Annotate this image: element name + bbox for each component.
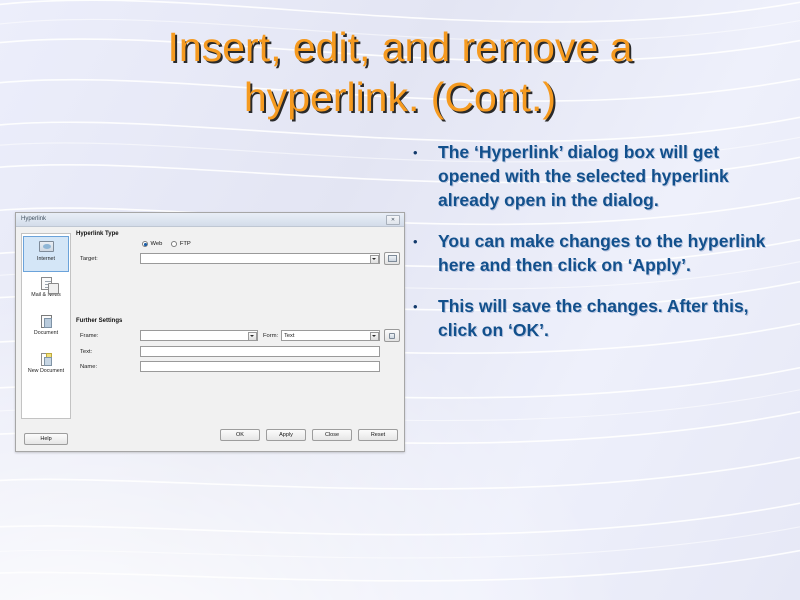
sidebar-item-new-document[interactable]: New Document	[22, 350, 70, 386]
name-label: Name:	[76, 364, 140, 370]
further-settings-group-label: Further Settings	[76, 318, 400, 324]
target-input[interactable]	[140, 253, 380, 264]
frame-input[interactable]	[140, 330, 258, 341]
chevron-down-icon[interactable]	[370, 255, 379, 264]
text-input[interactable]	[140, 346, 380, 357]
radio-web-indicator	[142, 241, 148, 247]
help-button[interactable]: Help	[24, 433, 68, 445]
document-icon	[38, 315, 54, 329]
browse-target-icon	[388, 255, 397, 262]
hyperlink-type-group-label: Hyperlink Type	[76, 231, 400, 237]
sidebar-item-label: Mail & News	[22, 292, 70, 298]
dialog-title: Hyperlink	[21, 216, 46, 222]
dialog-titlebar: Hyperlink ✕	[16, 213, 404, 227]
apply-button[interactable]: Apply	[266, 429, 306, 441]
events-icon	[389, 333, 395, 339]
bullet-marker: •	[408, 140, 438, 165]
ok-button-label: OK	[236, 432, 244, 438]
mail-news-icon	[38, 277, 54, 291]
sidebar-item-label: New Document	[22, 368, 70, 374]
form-select[interactable]: Text	[281, 330, 380, 341]
close-button[interactable]: ✕	[386, 215, 400, 225]
chevron-down-icon[interactable]	[248, 332, 257, 341]
dialog-sidebar[interactable]: Internet Mail & News Document New Docume…	[21, 233, 71, 419]
presentation-slide: Insert, edit, and remove a hyperlink. (C…	[0, 0, 800, 600]
list-item: • The ‘Hyperlink’ dialog box will get op…	[408, 140, 776, 212]
page-title: Insert, edit, and remove a hyperlink. (C…	[60, 22, 740, 122]
form-value: Text	[284, 333, 294, 339]
reset-button-label: Reset	[371, 432, 385, 438]
radio-ftp[interactable]: FTP	[171, 241, 190, 247]
events-button[interactable]	[384, 329, 400, 342]
radio-web[interactable]: Web	[142, 241, 162, 247]
bullet-text: This will save the changes. After this, …	[438, 294, 776, 342]
sidebar-item-internet[interactable]: Internet	[23, 236, 69, 272]
internet-monitor-icon	[38, 241, 54, 255]
sidebar-item-document[interactable]: Document	[22, 312, 70, 348]
form-label: Form:	[263, 333, 278, 339]
chevron-down-icon[interactable]	[370, 332, 379, 341]
reset-button[interactable]: Reset	[358, 429, 398, 441]
dialog-content-pane: Hyperlink Type Web FTP Target:	[76, 231, 400, 447]
list-item: • You can make changes to the hyperlink …	[408, 229, 776, 277]
bullet-marker: •	[408, 294, 438, 319]
dialog-body: Internet Mail & News Document New Docume…	[16, 227, 404, 451]
bullet-text: The ‘Hyperlink’ dialog box will get open…	[438, 140, 776, 212]
text-label: Text:	[76, 349, 140, 355]
name-row: Name:	[76, 361, 400, 372]
target-row: Target:	[76, 252, 400, 265]
sidebar-item-mail-news[interactable]: Mail & News	[22, 274, 70, 310]
sidebar-item-label: Document	[22, 330, 70, 336]
bullet-list: • The ‘Hyperlink’ dialog box will get op…	[408, 140, 776, 359]
browse-target-button[interactable]	[384, 252, 400, 265]
radio-ftp-label: FTP	[180, 241, 191, 247]
close-icon: ✕	[391, 218, 395, 223]
target-label: Target:	[76, 256, 140, 262]
close-button-label: Close	[325, 432, 339, 438]
sidebar-item-label: Internet	[24, 256, 68, 262]
frame-form-row: Frame: Form: Text	[76, 329, 400, 342]
radio-web-label: Web	[151, 241, 163, 247]
bullet-marker: •	[408, 229, 438, 254]
hyperlink-dialog-screenshot: Hyperlink ✕ Internet Mail & News Documen…	[15, 212, 405, 452]
list-item: • This will save the changes. After this…	[408, 294, 776, 342]
new-document-icon	[38, 353, 54, 367]
hyperlink-type-radio-group[interactable]: Web FTP	[142, 241, 400, 247]
ok-button[interactable]: OK	[220, 429, 260, 441]
close-dialog-button[interactable]: Close	[312, 429, 352, 441]
dialog-button-row: OK Apply Close Reset	[220, 429, 398, 441]
radio-ftp-indicator	[171, 241, 177, 247]
name-input[interactable]	[140, 361, 380, 372]
help-button-label: Help	[40, 436, 51, 442]
bullet-text: You can make changes to the hyperlink he…	[438, 229, 776, 277]
frame-label: Frame:	[76, 333, 140, 339]
apply-button-label: Apply	[279, 432, 293, 438]
text-row: Text:	[76, 346, 400, 357]
